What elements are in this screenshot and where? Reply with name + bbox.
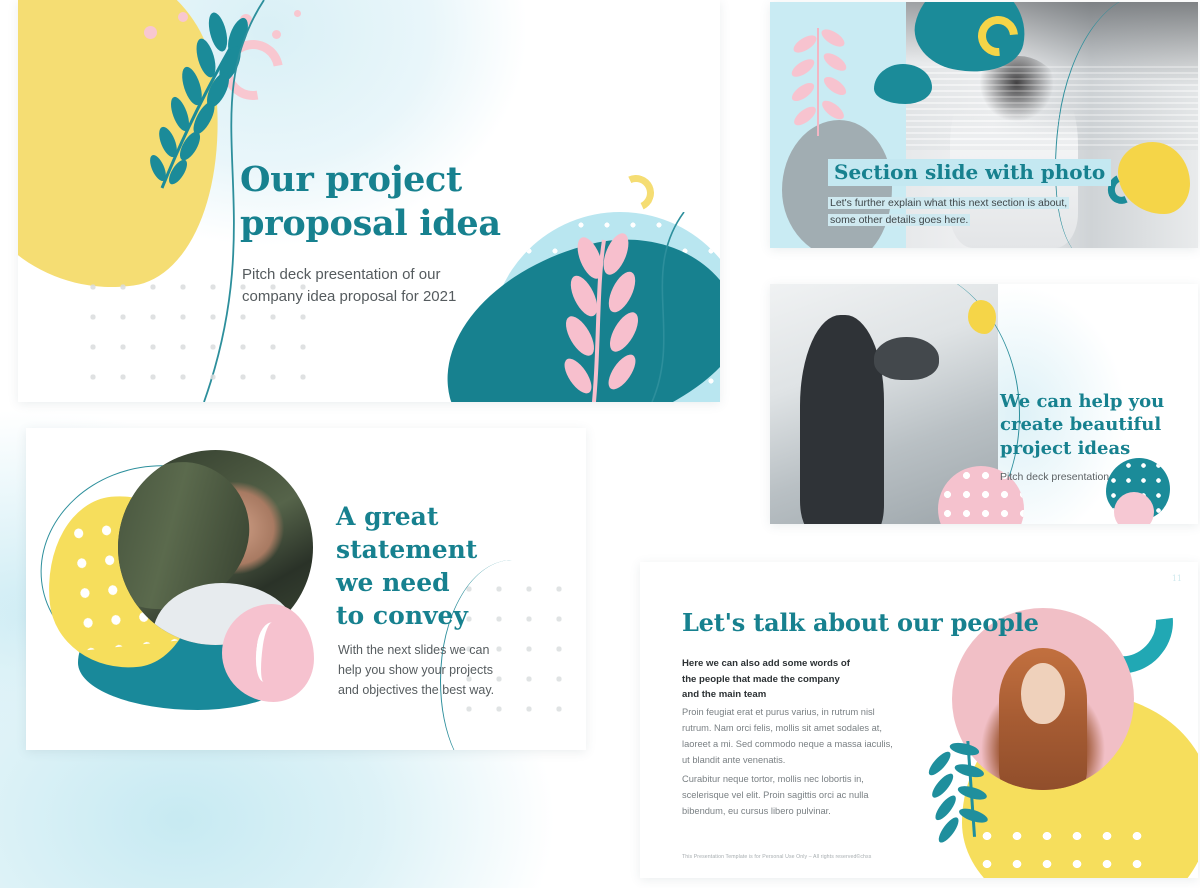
slide4-subtitle-line3: and objectives the best way. [338,680,528,700]
slide1-title-line2: proposal idea [240,202,560,246]
slide3-title-line3: project ideas [1000,437,1176,460]
slide4-subtitle-line2: help you show your projects [338,660,528,680]
slide3-title-line1: We can help you [1000,390,1176,413]
teal-small-blob [874,64,932,104]
slide2-subtitle: Let's further explain what this next sec… [828,195,1078,229]
slide3-title-line2: create beautiful [1000,413,1176,436]
slide-we-can-help[interactable]: We can help you create beautiful project… [770,284,1198,524]
teal-thin-curve [622,212,702,402]
slide1-subtitle-line1: Pitch deck presentation of our [242,264,522,286]
slide4-title-line2: statement [336,533,552,566]
slide5-footer-credit: This Presentation Template is for Person… [682,854,871,860]
slide3-subtitle: Pitch deck presentation [1000,471,1176,483]
slide1-title: Our project proposal idea [240,158,560,246]
slide-section-with-photo[interactable]: Section slide with photo Let's further e… [770,2,1198,248]
slide5-paragraph-1: Proin feugiat erat et purus varius, in r… [682,705,896,769]
slide-title[interactable]: Our project proposal idea Pitch deck pre… [18,0,720,402]
slide5-lead-line3: and the main team [682,687,892,703]
slide4-subtitle: With the next slides we can help you sho… [338,640,528,700]
slide4-title-line4: to convey [336,599,552,632]
slide4-title-line1: A great [336,500,552,533]
slide4-title: A great statement we need to convey [336,500,552,632]
slide4-title-line3: we need [336,566,552,599]
slide5-paragraph-2: Curabitur neque tortor, mollis nec lobor… [682,772,896,820]
slide-lets-talk-people[interactable]: 11 Let's talk about our people Here we c… [640,562,1198,878]
slide2-subtitle-line1: Let's further explain what this next sec… [828,197,1069,209]
slide1-subtitle-line2: company idea proposal for 2021 [242,286,522,308]
slide5-title: Let's talk about our people [682,608,1039,637]
fern-stem [817,28,819,136]
slide2-subtitle-line2: some other details goes here. [828,214,970,226]
pink-squiggle-shape [222,604,314,702]
yellow-accent-shape [968,300,996,334]
slide1-title-line1: Our project [240,158,560,202]
slide1-subtitle: Pitch deck presentation of our company i… [242,264,522,308]
slide-great-statement[interactable]: A great statement we need to convey With… [26,428,586,750]
presentation-showcase-canvas: Our project proposal idea Pitch deck pre… [0,0,1200,888]
slide2-title: Section slide with photo [828,159,1111,186]
slide3-title: We can help you create beautiful project… [1000,390,1176,460]
slide4-subtitle-line1: With the next slides we can [338,640,528,660]
slide5-lead-line1: Here we can also add some words of [682,656,892,672]
page-number: 11 [1172,574,1182,583]
slide5-lead-line2: the people that made the company [682,672,892,688]
slide5-lead-text: Here we can also add some words of the p… [682,656,892,703]
pink-fern-leaf [784,22,858,138]
pink-circle-shape [1114,492,1154,524]
